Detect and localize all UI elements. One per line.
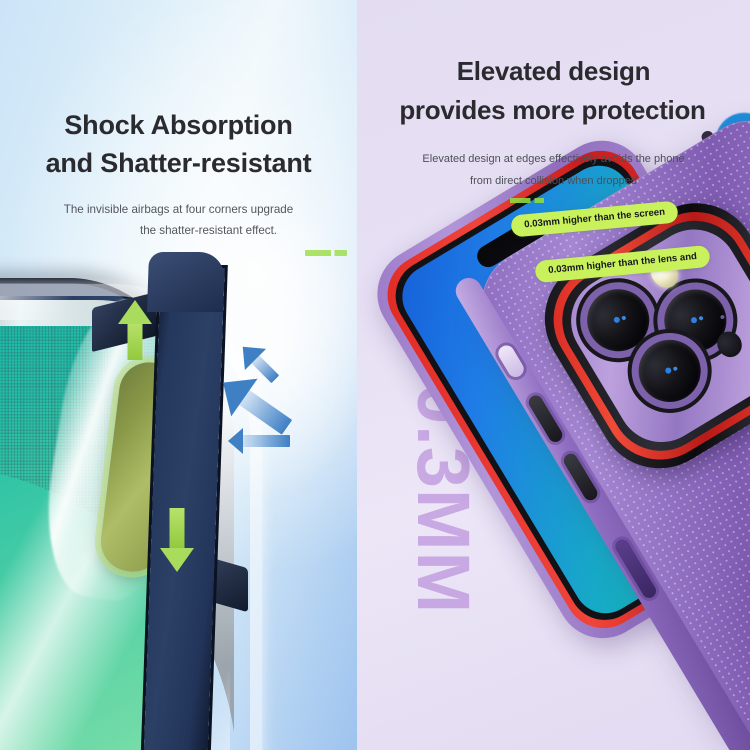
airbag-expand-arrow-up-icon: [118, 300, 152, 360]
airbag-expand-arrow-down-icon: [160, 508, 194, 572]
left-subtitle-line2: the shatter-resistant effect.: [0, 221, 357, 242]
left-subtitle-line1: The invisible airbags at four corners up…: [64, 203, 293, 216]
left-heading: Shock Absorption and Shatter-resistant: [0, 106, 357, 183]
right-subtitle-line2: from direct collision when dropped: [470, 175, 637, 187]
right-feature-panel: 0.3MM: [357, 0, 750, 750]
right-heading-line1: Elevated design: [357, 52, 750, 91]
right-green-dash-marker-icon: [510, 198, 544, 203]
impact-arrow-bottom-icon: [228, 428, 290, 454]
right-subtitle: Elevated design at edges effectively avo…: [357, 148, 750, 192]
product-feature-banner: Shock Absorption and Shatter-resistant T…: [0, 0, 750, 750]
right-heading-line2: provides more protection: [357, 91, 750, 130]
right-subtitle-line1: Elevated design at edges effectively avo…: [422, 153, 684, 165]
left-subtitle: The invisible airbags at four corners up…: [0, 200, 357, 241]
phone-side-band-top: [147, 252, 225, 312]
left-heading-line1: Shock Absorption: [64, 110, 292, 140]
right-heading: Elevated design provides more protection: [357, 52, 750, 130]
left-green-dash-marker-icon: [305, 250, 347, 256]
left-feature-panel: Shock Absorption and Shatter-resistant T…: [0, 0, 357, 750]
left-heading-line2: and Shatter-resistant: [46, 148, 312, 178]
